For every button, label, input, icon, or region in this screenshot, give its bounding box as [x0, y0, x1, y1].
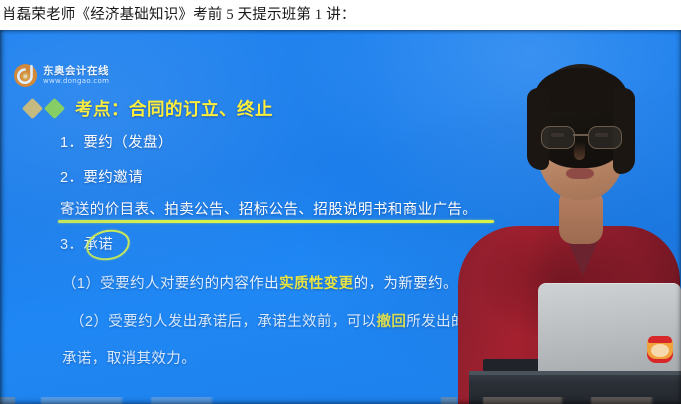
glasses-bridge [573, 134, 588, 136]
mouth [566, 168, 594, 179]
slide-highlight-text: 撤回 [376, 314, 406, 330]
slide-list-item: 1．要约（发盘） [60, 136, 510, 151]
circle-annotation [84, 227, 132, 263]
glasses-icon [541, 126, 623, 148]
slide-sub-item: （2）受要约人发出承诺后，承诺生效前，可以撤回所发出的 [60, 315, 510, 330]
video-player-frame[interactable]: 东奥会计在线 www.dongao.com 考点：合同的订立、终止 1．要约（发… [0, 30, 681, 404]
slide-sub-item-text-a: （1）受要约人对要约的内容作出 [62, 276, 279, 292]
glasses-lens-left [541, 126, 575, 149]
slide-sub-item-continuation: 承诺，取消其效力。 [60, 352, 510, 367]
brand-logo: 东奥会计在线 www.dongao.com [13, 63, 109, 88]
instructor-figure [455, 30, 681, 404]
diamond-bullet-icon [22, 98, 43, 119]
page-title: 肖磊荣老师《经济基础知识》考前 5 天提示班第 1 讲： [0, 0, 681, 30]
glasses-lens-right [588, 126, 622, 149]
slide-underlined-text: 寄送的价目表、拍卖公告、招标公告、招股说明书和商业广告。 [60, 203, 477, 218]
slide-circled-line-wrap: 3．承诺 [60, 238, 510, 253]
podium-desk-top-edge [469, 371, 681, 375]
slide-body: 1．要约（发盘） 2．要约邀请 寄送的价目表、拍卖公告、招标公告、招股说明书和商… [60, 136, 510, 366]
slide-underlined-line-wrap: 寄送的价目表、拍卖公告、招标公告、招股说明书和商业广告。 [60, 203, 477, 218]
slide-sub-item-text-b: 的，为新要约。 [354, 276, 458, 292]
bear-sticker-hat [648, 336, 672, 343]
bear-sticker-face [651, 344, 669, 357]
slide-sub-item-text-a: （2）受要约人发出承诺后，承诺生效前，可以 [70, 314, 376, 330]
bottom-watermark-strip [0, 397, 681, 404]
diamond-bullet-icon [44, 98, 65, 119]
slide-title-row: 考点：合同的订立、终止 [25, 96, 273, 121]
underline-annotation [58, 220, 494, 223]
dongao-swirl-logo-icon [13, 63, 38, 88]
logo-brand-name: 东奥会计在线 [43, 66, 109, 77]
slide-sub-item: （1）受要约人对要约的内容作出实质性变更的，为新要约。 [60, 277, 510, 292]
slide-heading: 考点：合同的订立、终止 [75, 96, 273, 121]
slide-highlight-text: 实质性变更 [279, 276, 354, 292]
slide-list-item: 2．要约邀请 [60, 171, 510, 186]
logo-url: www.dongao.com [43, 78, 109, 85]
